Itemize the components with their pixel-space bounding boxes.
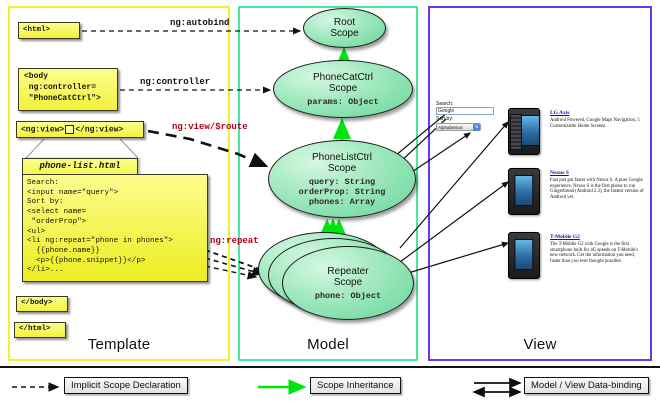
phone-snippet-3: The T-Mobile G2 with Google is the first… <box>550 242 646 264</box>
legend-implicit-label: Implicit Scope Declaration <box>64 377 188 394</box>
label-ng-controller: ng:controller <box>140 77 210 87</box>
scope-phonecatctrl-title: PhoneCatCtrl Scope <box>313 72 373 95</box>
diagram-canvas: Template Model View <box>0 0 660 405</box>
scope-repeater: Repeater Scope phone: Object <box>282 246 414 320</box>
search-widget: Search: Google Sort by: Alphabetical ⇅ <box>436 101 498 141</box>
sort-label: Sort by: <box>436 116 498 122</box>
label-ng-view-route: ng:view/$route <box>172 122 248 132</box>
scope-phonelistctrl-members: query: String orderProp: String phones: … <box>299 177 386 207</box>
legend-item-databinding: Model / View Data-binding <box>524 377 649 394</box>
ngview-slot-icon <box>65 125 74 134</box>
sort-select-value: Alphabetical <box>438 125 463 130</box>
code-ngview-text: <ng:view></ng:view> <box>17 122 143 138</box>
column-template-label: Template <box>10 336 228 353</box>
scope-phonelistctrl: PhoneListCtrl Scope query: String orderP… <box>268 140 416 218</box>
scope-phonecatctrl: PhoneCatCtrl Scope params: Object <box>273 60 413 118</box>
code-body-close-text: </body> <box>17 297 67 310</box>
phone-list-note: phone-list.html Search: <input name="que… <box>22 158 208 288</box>
phone-name-link-3[interactable]: T-Mobile G2 <box>550 234 646 240</box>
scope-root-title: Root Scope <box>330 17 358 40</box>
note-body: Search: <input name="query"> Sort by: <s… <box>22 174 208 282</box>
phone-screen-graphic <box>514 175 533 206</box>
legend-databinding-label: Model / View Data-binding <box>524 377 649 394</box>
code-box-body-open: <body ng:controller= "PhoneCatCtrl"> <box>18 68 118 111</box>
phone-name-link-2[interactable]: Nexus S <box>550 170 646 176</box>
label-ng-autobind: ng:autobind <box>170 18 229 28</box>
label-ng-repeat: ng:repeat <box>210 236 259 246</box>
phone-name-link-1[interactable]: LG Axis <box>550 110 646 116</box>
code-box-html-close: </html> <box>14 322 66 338</box>
phone-screen-graphic <box>514 239 533 270</box>
scope-repeater-stack: Repeater Scope phone: Object <box>258 232 418 330</box>
note-title-text: phone-list.html <box>23 159 137 173</box>
code-box-html-open: <html> <box>18 22 80 39</box>
note-code-text: Search: <input name="query"> Sort by: <s… <box>23 175 207 280</box>
phone-thumbnail-lg-axis <box>508 108 540 155</box>
column-model-label: Model <box>240 336 416 353</box>
scope-repeater-title: Repeater Scope <box>327 266 368 289</box>
phone-thumbnail-t-mobile-g2 <box>508 232 540 279</box>
legend-item-implicit: Implicit Scope Declaration <box>64 377 188 394</box>
column-view-label: View <box>430 336 650 353</box>
phone-thumbnail-nexus-s <box>508 168 540 215</box>
code-html-open-text: <html> <box>19 23 79 38</box>
scope-phonecatctrl-members: params: Object <box>307 97 378 107</box>
legend-inheritance-label: Scope Inheritance <box>310 377 401 394</box>
legend: Implicit Scope Declaration Scope Inherit… <box>0 366 660 407</box>
scope-root: Root Scope <box>303 8 386 48</box>
scope-repeater-members: phone: Object <box>315 291 381 301</box>
code-html-close-text: </html> <box>15 323 65 336</box>
note-title-tab: phone-list.html <box>22 158 138 175</box>
chevron-down-icon: ⇅ <box>473 124 480 131</box>
code-body-open-text: <body ng:controller= "PhoneCatCtrl"> <box>19 69 117 107</box>
ngview-close-tag: </ng:view> <box>75 126 123 135</box>
phone-screen-graphic <box>521 115 540 146</box>
code-box-body-close: </body> <box>16 296 68 312</box>
sort-select[interactable]: Alphabetical ⇅ <box>436 123 481 131</box>
search-input[interactable]: Google <box>436 107 494 115</box>
phone-snippet-1: Android Powered, Google Maps Navigation,… <box>550 118 646 129</box>
phone-snippet-2: Fast just got faster with Nexus S. A pur… <box>550 178 646 200</box>
code-box-ngview: <ng:view></ng:view> <box>16 121 144 138</box>
ngview-open-tag: <ng:view> <box>21 126 64 135</box>
legend-item-inheritance: Scope Inheritance <box>310 377 401 394</box>
scope-phonelistctrl-title: PhoneListCtrl Scope <box>312 152 372 175</box>
